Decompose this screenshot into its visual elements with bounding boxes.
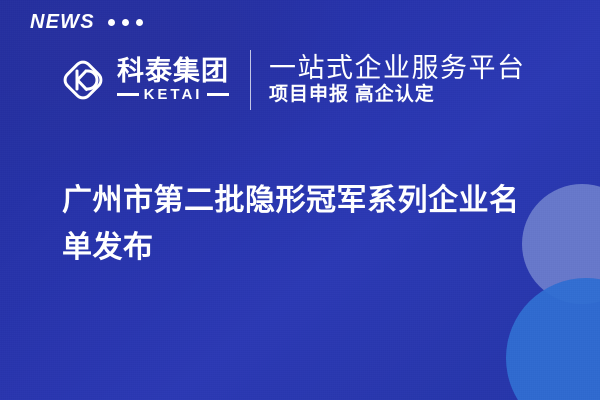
headline-title: 广州市第二批隐形冠军系列企业名单发布 [62, 178, 542, 271]
logo-name-en: KETAI [144, 87, 203, 102]
news-banner: NEWS 科泰集团 [0, 0, 600, 400]
news-dot-icon [136, 19, 143, 26]
news-dot-icon [108, 19, 115, 26]
logo-rule-right [207, 93, 229, 96]
company-logo: 科泰集团 KETAI [58, 55, 229, 105]
ketai-diamond-kd-monogram-icon [58, 55, 108, 105]
logo-name-en-row: KETAI [117, 87, 229, 102]
logo-wordmark: 科泰集团 KETAI [117, 58, 229, 103]
logo-rule-left [117, 93, 139, 96]
tagline-main: 一站式企业服务平台 [269, 54, 526, 82]
news-label: NEWS [30, 12, 95, 32]
tagline-sub: 项目申报 高企认定 [269, 85, 526, 106]
news-eyebrow: NEWS [30, 12, 143, 32]
brand-band: 科泰集团 KETAI 一站式企业服务平台 项目申报 高企认定 [0, 44, 600, 116]
news-dots-icon [108, 19, 143, 26]
news-dot-icon [122, 19, 129, 26]
brand-divider [250, 50, 251, 110]
tagline-block: 一站式企业服务平台 项目申报 高企认定 [269, 54, 526, 106]
decorative-circle-bright [506, 278, 600, 400]
logo-name-cn: 科泰集团 [117, 58, 229, 86]
